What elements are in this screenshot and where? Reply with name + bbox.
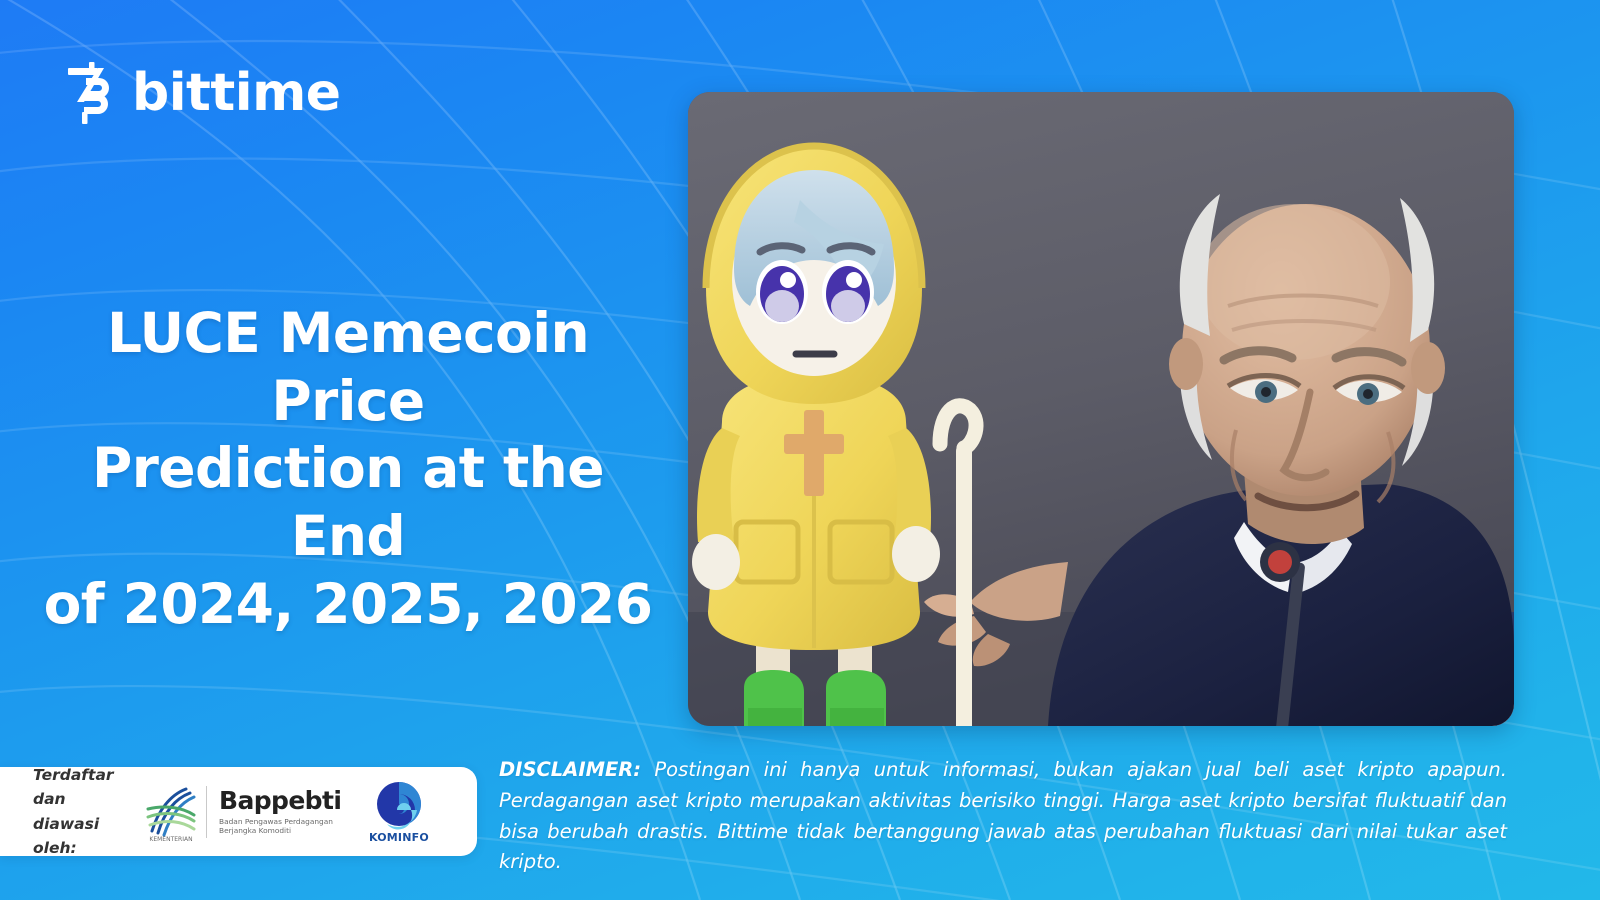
headline-line-2: Prediction at the End	[28, 435, 668, 570]
kominfo-name: KOMINFO	[369, 831, 429, 844]
hero-photo-illustration	[688, 92, 1514, 726]
disclaimer-body: Postingan ini hanya untuk informasi, buk…	[499, 758, 1507, 873]
kominfo-icon	[373, 780, 425, 830]
brand-logo[interactable]: bittime	[62, 62, 341, 124]
badge-prefix-line-2: diawasi oleh:	[33, 812, 142, 860]
kemendag-logo: KEMENTERIAN	[142, 781, 200, 843]
badge-prefix-line-1: Terdaftar dan	[33, 763, 142, 811]
brand-name: bittime	[132, 67, 341, 119]
hero-photo	[688, 92, 1514, 726]
headline-line-1: LUCE Memecoin Price	[28, 300, 668, 435]
bappebti-name: Bappebti	[219, 788, 351, 813]
disclaimer-text: DISCLAIMER: Postingan ini hanya untuk in…	[499, 755, 1507, 878]
badge-prefix-text: Terdaftar dan diawasi oleh:	[0, 763, 142, 859]
badge-divider	[206, 786, 207, 838]
regulatory-badge-bar: Terdaftar dan diawasi oleh: KEMENTERIAN …	[0, 767, 477, 856]
poster-canvas: bittime LUCE Memecoin Price Prediction a…	[0, 0, 1600, 900]
kominfo-logo: KOMINFO	[369, 780, 429, 844]
bappebti-logo: Bappebti Badan Pengawas Perdagangan Berj…	[219, 788, 351, 836]
bappebti-subtitle: Badan Pengawas Perdagangan Berjangka Kom…	[219, 817, 351, 836]
svg-text:KEMENTERIAN: KEMENTERIAN	[149, 836, 192, 843]
disclaimer-label: DISCLAIMER:	[499, 758, 641, 781]
kementerian-perdagangan-icon: KEMENTERIAN	[142, 781, 200, 843]
bittime-b-mark-icon	[62, 62, 118, 124]
page-title: LUCE Memecoin Price Prediction at the En…	[28, 300, 668, 638]
headline-line-3: of 2024, 2025, 2026	[28, 571, 668, 639]
